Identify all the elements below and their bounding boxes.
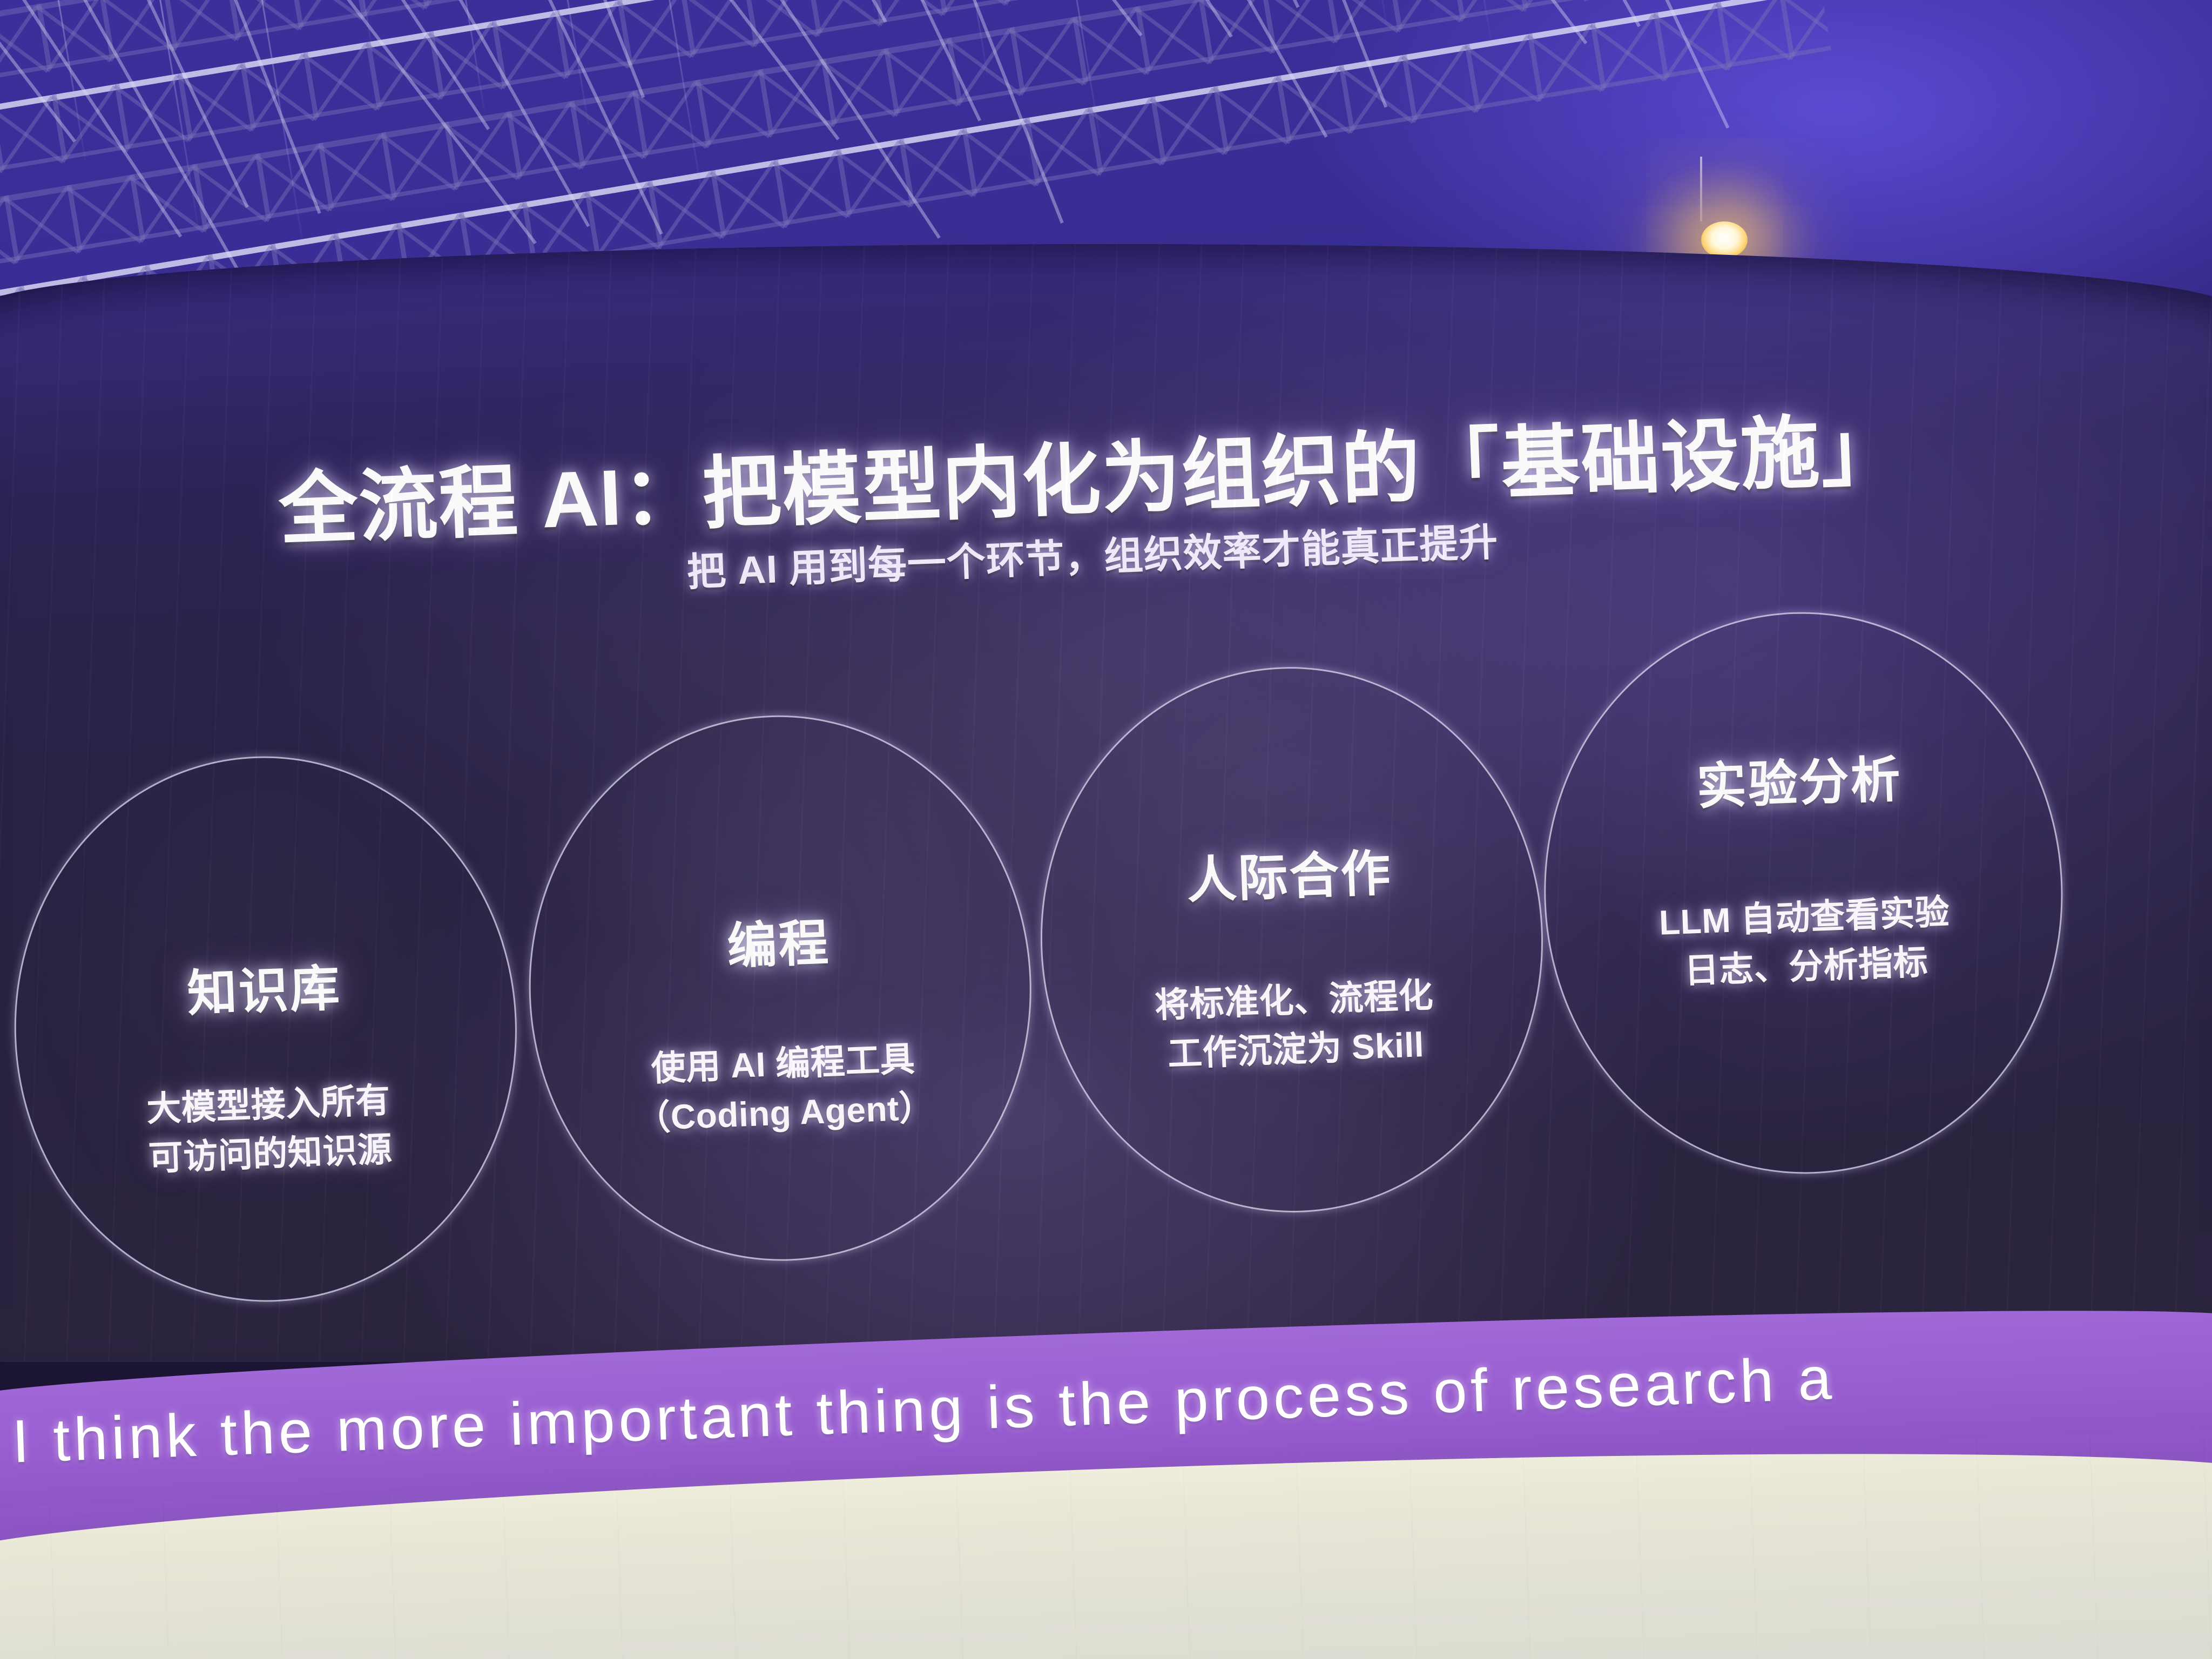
circle-collaboration (1030, 658, 1553, 1222)
circle-desc-experiment-analysis: LLM 自动查看实验 日志、分析指标 (1534, 883, 2077, 1001)
stage-scene: 全流程 AI：把模型内化为组织的「基础设施」 把 AI 用到每一个环节，组织效率… (0, 0, 2212, 1659)
truss-post (680, 0, 696, 55)
circle-desc-coding: 使用 AI 编程工具 （Coding Agent） (521, 1029, 1048, 1147)
circle-desc-knowledge-base: 大模型接入所有 可访问的知识源 (6, 1070, 533, 1188)
circle-coding (519, 706, 1041, 1270)
slide-content: 全流程 AI：把模型内化为组织的「基础设施」 把 AI 用到每一个环节，组织效率… (0, 244, 2212, 1362)
truss-post (1779, 0, 1795, 57)
lamp-chain (1700, 157, 1702, 221)
circle-desc-collaboration: 将标准化、流程化 工作沉淀为 Skill (1031, 966, 1559, 1084)
led-screen: 全流程 AI：把模型内化为组织的「基础设施」 把 AI 用到每一个环节，组织效率… (0, 244, 2212, 1362)
truss-diagonal (1585, 0, 1640, 1)
truss-chord (0, 0, 1816, 272)
circle-diagram: 知识库 大模型接入所有 可访问的知识源 编程 使用 AI 编程工具 （Codin… (0, 504, 2212, 1345)
